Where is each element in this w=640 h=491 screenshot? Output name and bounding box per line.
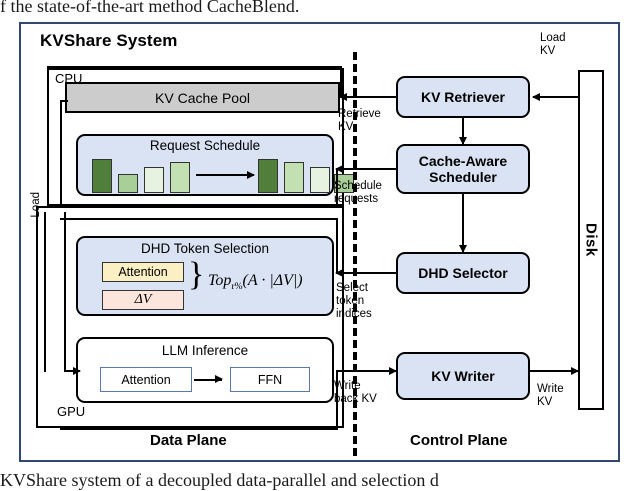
select-token-indices-arrow (336, 272, 396, 274)
figure-caption-clipped: KVShare system of a decoupled data-paral… (0, 470, 640, 491)
schedule-requests-label: Schedule requests (334, 180, 382, 206)
retrieve-kv-label: Retrieve KV (338, 108, 382, 134)
request-bar-0 (92, 159, 112, 193)
page-title: KVShare System (40, 31, 177, 51)
scheduler-to-dhd-selector-arrow (462, 194, 464, 252)
attention-input-box: Attention (102, 262, 184, 282)
kv-writer-label: KV Writer (398, 354, 528, 398)
request-schedule-flow-arrow (196, 174, 254, 176)
request-bar-6 (310, 167, 330, 193)
attention-to-ffn-arrow (194, 379, 222, 381)
request-bar-5 (284, 162, 304, 193)
topr-formula: Topr%(A · |ΔV|) (208, 272, 303, 292)
cpu-top-bus (47, 66, 342, 68)
retrieve-kv-riser (340, 66, 342, 97)
write-back-kv-arrow (336, 370, 396, 372)
kv-retriever-block: KV Retriever (396, 76, 530, 118)
load-kv-label: Load KV (540, 32, 576, 58)
paper-text-above-figure: f the state-of-the-art method CacheBlend… (0, 0, 640, 18)
formula-subscript: r% (231, 282, 242, 292)
dhd-selector-block: DHD Selector (396, 252, 530, 294)
request-bar-2 (144, 167, 164, 193)
dhd-token-selection-title: DHD Token Selection (78, 241, 332, 256)
request-bar-3 (170, 162, 190, 193)
cache-aware-scheduler-block: Cache-Aware Scheduler (396, 144, 530, 194)
load-rail-inner (64, 212, 66, 370)
ffn-stage-box: FFN (230, 367, 310, 392)
gpu-region-label: GPU (55, 404, 87, 419)
kv-writer-block: KV Writer (396, 352, 530, 400)
data-plane-caption: Data Plane (150, 432, 227, 449)
disk-label: Disk (583, 223, 600, 257)
curly-brace-icon: } (188, 258, 204, 292)
disk-to-kv-retriever-arrow (533, 96, 578, 98)
request-schedule-title: Request Schedule (78, 138, 332, 153)
load-rail-upper (60, 100, 62, 206)
load-rail-tap (60, 100, 68, 102)
llm-inference-block: LLM Inference Attention FFN (76, 337, 334, 403)
write-back-kv-label: Write back KV (334, 380, 382, 406)
select-token-indices-label: Select token indices (336, 282, 384, 322)
schedule-requests-arrow (336, 168, 396, 170)
formula-suffix: (A · |ΔV|) (243, 272, 303, 289)
write-kv-label: Write KV (537, 383, 577, 409)
request-queue-bars (78, 157, 332, 196)
write-kv-arrow (530, 370, 578, 372)
kv-retriever-label: KV Retriever (398, 78, 528, 116)
disk-block: Disk (578, 70, 604, 410)
select-token-bus (60, 218, 338, 220)
load-to-llm-inference-arrow (64, 370, 80, 372)
formula-prefix: Top (208, 272, 231, 289)
cache-aware-scheduler-label: Cache-Aware Scheduler (398, 146, 528, 192)
kv-retriever-to-scheduler-arrow (462, 118, 464, 144)
schedule-requests-bus (60, 206, 338, 208)
control-plane-caption: Control Plane (410, 432, 508, 449)
delta-v-input-box: ΔV (102, 290, 184, 310)
dhd-selector-label: DHD Selector (398, 254, 528, 292)
request-schedule-block: Request Schedule (76, 134, 334, 196)
write-back-bus (60, 428, 338, 430)
request-bar-4 (258, 159, 278, 193)
attention-stage-box: Attention (100, 367, 192, 392)
request-bar-1 (118, 174, 138, 193)
dhd-token-selection-block: DHD Token Selection Attention ΔV } Topr%… (76, 236, 334, 316)
kv-cache-pool-block: KV Cache Pool (65, 82, 340, 113)
llm-inference-title: LLM Inference (78, 343, 332, 358)
load-label: Load (30, 192, 42, 218)
select-token-riser (336, 218, 338, 273)
load-rail-outer (44, 212, 46, 372)
retrieve-kv-arrow (340, 96, 396, 98)
